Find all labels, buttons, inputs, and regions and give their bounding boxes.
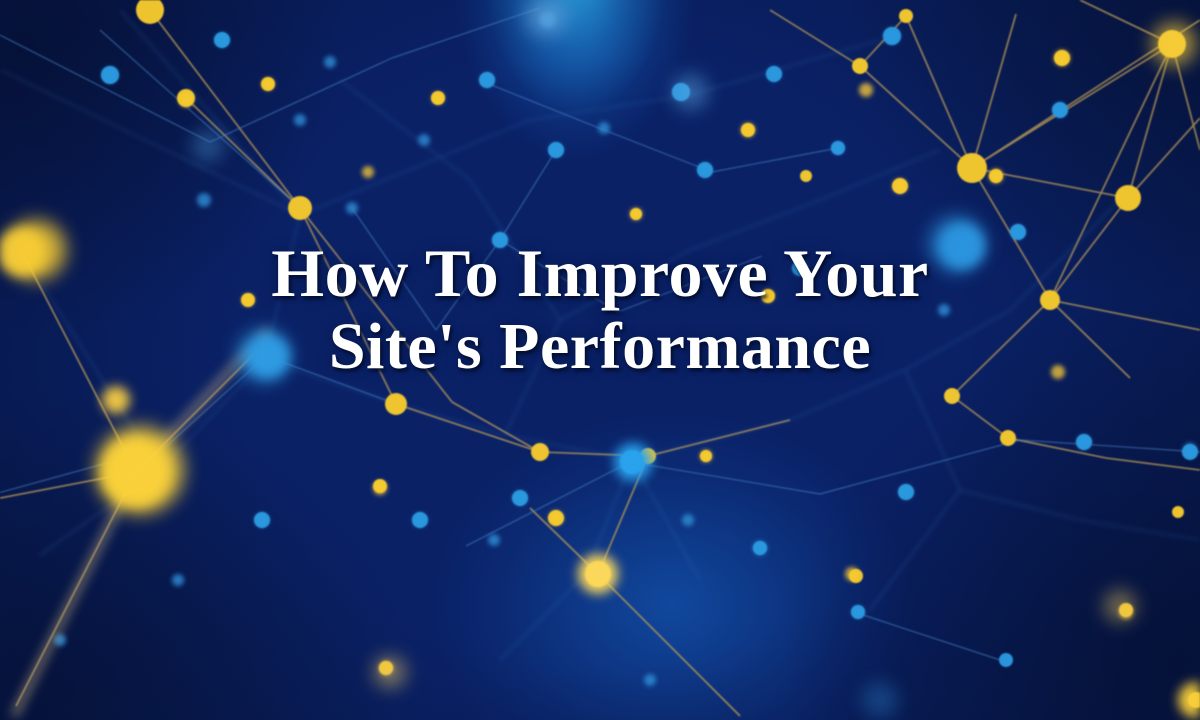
network-layer-bokeh: [0, 0, 1200, 720]
hero-banner: How To Improve Your Site's Performance: [0, 0, 1200, 720]
bokeh-nodes: [6, 0, 1196, 718]
